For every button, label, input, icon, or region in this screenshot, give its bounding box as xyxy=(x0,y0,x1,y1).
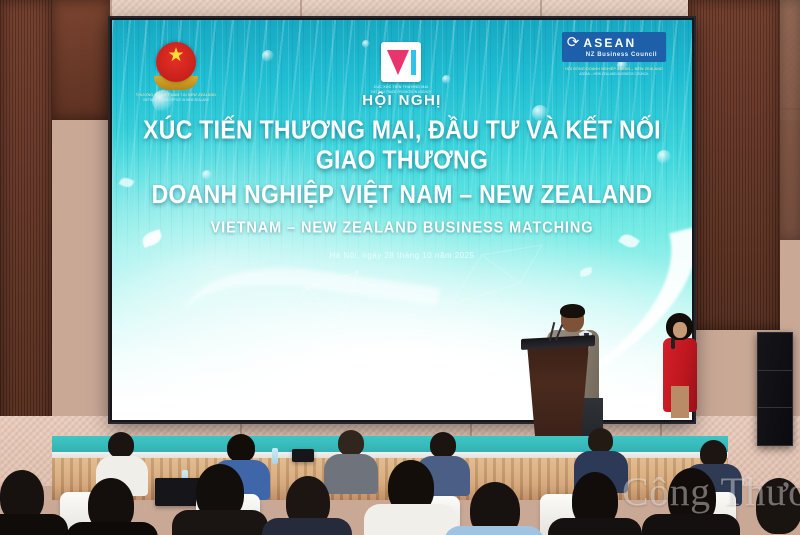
audience-torso-front xyxy=(444,526,544,535)
logo-vietrade: CỤC XÚC TIẾN THƯƠNG MẠI VIETNAM TRADE PR… xyxy=(326,42,476,95)
water-bottle xyxy=(272,448,278,464)
audience-head xyxy=(588,428,613,453)
wood-panel-upper-left xyxy=(52,0,110,120)
mc-red-dress xyxy=(663,338,697,412)
asean-logo-badge: ⟳ ASEAN NZ Business Council xyxy=(562,32,666,62)
logo-asean-nz-business-council: ⟳ ASEAN NZ Business Council HỘI ĐỒNG DOA… xyxy=(544,32,684,77)
speaker-hair xyxy=(560,304,585,318)
audience-torso xyxy=(324,454,378,494)
mc-legs xyxy=(671,386,689,418)
wood-panel-left xyxy=(0,0,52,470)
screen-headline-block: HỘI NGHỊ XÚC TIẾN THƯƠNG MẠI, ĐẦU TƯ VÀ … xyxy=(112,92,692,260)
audience-head xyxy=(700,440,727,467)
audience-torso-front xyxy=(364,504,458,535)
conference-photo: THƯƠNG VỤ VIỆT NAM TẠI NEW ZEALAND VIETN… xyxy=(0,0,800,535)
polygon-network-graphic xyxy=(262,258,382,358)
audience-torso-front xyxy=(66,522,158,535)
speaker-head xyxy=(561,306,584,332)
wood-panel-right xyxy=(688,0,780,330)
audience-torso-front xyxy=(262,518,352,535)
asean-logo-name: ASEAN xyxy=(583,37,636,49)
audience-head xyxy=(227,434,255,462)
mc-in-red-dress xyxy=(663,316,697,412)
asean-koru-swirl-icon: ⟳ xyxy=(567,35,580,50)
headline-subtitle-english: VIETNAM – NEW ZEALAND BUSINESS MATCHING xyxy=(112,219,692,237)
audience-torso-front xyxy=(0,514,68,535)
led-backdrop-screen: THƯƠNG VỤ VIỆT NAM TẠI NEW ZEALAND VIETN… xyxy=(110,18,694,422)
asean-logo-subtitle: NZ Business Council xyxy=(586,52,657,58)
vietnam-national-emblem-icon xyxy=(156,42,196,82)
audience-torso-front xyxy=(548,518,642,535)
audience-head xyxy=(108,432,134,458)
headline-title-line2: DOANH NGHIỆP VIỆT NAM – NEW ZEALAND xyxy=(112,179,692,209)
vietrade-v-shape xyxy=(387,50,409,75)
logo-caption-vn: HỘI ĐỒNG DOANH NGHIỆP ASEAN – NEW ZEALAN… xyxy=(541,67,688,72)
headline-title-line1: XÚC TIẾN THƯƠNG MẠI, ĐẦU TƯ VÀ KẾT NỐI G… xyxy=(112,115,692,175)
wood-panel-far-right xyxy=(780,0,800,240)
audience-head xyxy=(338,430,364,456)
audience-head xyxy=(430,432,456,458)
handheld-microphone-icon xyxy=(671,338,675,349)
laptop xyxy=(292,449,314,462)
logo-caption-vn: CỤC XÚC TIẾN THƯƠNG MẠI xyxy=(322,85,480,90)
audience-torso-front xyxy=(172,510,268,535)
headline-date-line: Hà Nội, ngày 28 tháng 10 năm 2025 xyxy=(112,251,692,260)
vietrade-v-logo-icon xyxy=(381,42,421,82)
headline-kicker: HỘI NGHỊ xyxy=(112,92,692,109)
podium xyxy=(527,344,589,444)
audience-torso-front xyxy=(642,514,740,535)
audience-head-front xyxy=(756,478,800,534)
logo-caption-en: ASEAN – NEW ZEALAND BUSINESS COUNCIL xyxy=(544,72,684,77)
mc-face xyxy=(673,322,687,338)
mc-head xyxy=(669,316,690,340)
pa-speaker-stack xyxy=(757,332,793,446)
vietrade-bar-shape xyxy=(411,50,416,75)
